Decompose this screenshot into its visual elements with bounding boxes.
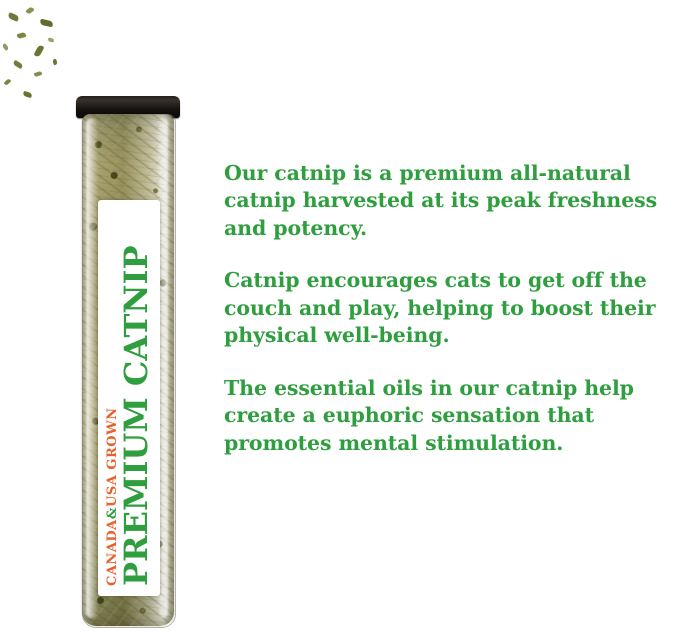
copy-paragraph-2: Catnip encourages cats to get off the co… [224, 267, 668, 349]
marketing-copy: Our catnip is a premium all-natural catn… [224, 160, 668, 457]
catnip-tube: CANADA&USA GROWN PREMIUM CATNIP [72, 96, 184, 626]
copy-paragraph-3: The essential oils in our catnip help cr… [224, 375, 668, 457]
product-marketing-image: CANADA&USA GROWN PREMIUM CATNIP Our catn… [0, 0, 679, 643]
copy-paragraph-1: Our catnip is a premium all-natural catn… [224, 160, 668, 242]
label-product-name: PREMIUM CATNIP [120, 200, 153, 586]
product-label: CANADA&USA GROWN PREMIUM CATNIP [98, 200, 160, 596]
tube-highlight-left [86, 118, 98, 618]
